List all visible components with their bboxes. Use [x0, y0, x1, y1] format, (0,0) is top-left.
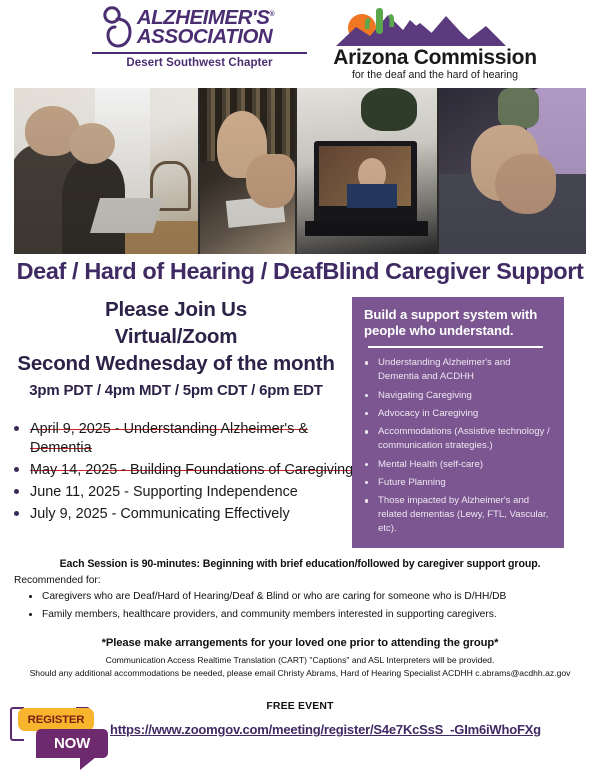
register-now-badge[interactable]: REGISTER NOW [10, 703, 118, 765]
arizona-commission-name: Arizona Commission [333, 47, 536, 68]
session-date-text: June 11, 2025 - Supporting Independence [30, 484, 298, 500]
bullet-icon [29, 595, 32, 598]
flyer-page: ALZHEIMER'S® ASSOCIATION Desert Southwes… [0, 0, 600, 776]
photo-hands-signing [200, 88, 295, 254]
join-line-schedule: Second Wednesday of the month [6, 350, 346, 377]
accessibility-note-line1: Communication Access Realtime Translatio… [0, 655, 600, 665]
list-item: July 9, 2025 - Communicating Effectively [8, 505, 354, 524]
session-date-text: May 14, 2025 - Building Foundations of C… [30, 462, 353, 478]
list-item: Those impacted by Alzheimer's and relate… [364, 494, 552, 536]
join-line-please-join-us: Please Join Us [6, 296, 346, 323]
session-date-text: July 9, 2025 - Communicating Effectively [30, 506, 290, 522]
recommended-audience-text: Caregivers who are Deaf/Hard of Hearing/… [42, 591, 506, 602]
list-item: Navigating Caregiving [364, 389, 552, 403]
support-topic-text: Understanding Alzheimer's and Dementia a… [378, 357, 511, 382]
photo-two-people-viewing-laptop [14, 88, 198, 254]
register-label: REGISTER [18, 708, 94, 731]
list-item: April 9, 2025 - Understanding Alzheimer'… [8, 420, 354, 458]
list-item: Mental Health (self-care) [364, 458, 552, 472]
list-item: Family members, healthcare providers, an… [24, 608, 584, 623]
arizona-desert-mountains-cactus-icon [336, 6, 534, 46]
support-topics-list: Understanding Alzheimer's and Dementia a… [364, 356, 552, 536]
accessibility-note-line2: Should any additional accommodations be … [0, 668, 600, 678]
support-topics-panel: Build a support system with people who u… [352, 297, 564, 548]
bullet-icon [365, 394, 368, 397]
list-item: Future Planning [364, 476, 552, 490]
support-topic-text: Mental Health (self-care) [378, 459, 483, 470]
alz-logo-wordmark: ALZHEIMER'S® ASSOCIATION [137, 8, 274, 46]
photo-strip [14, 88, 586, 254]
support-topic-text: Those impacted by Alzheimer's and relate… [378, 495, 548, 534]
bullet-icon [14, 467, 19, 472]
now-label: NOW [36, 729, 108, 758]
page-title: Deaf / Hard of Hearing / DeafBlind Careg… [0, 258, 600, 285]
recommended-audience-list: Caregivers who are Deaf/Hard of Hearing/… [24, 590, 584, 626]
registered-mark-icon: ® [269, 11, 274, 18]
support-topics-divider [368, 346, 543, 348]
bullet-icon [14, 426, 19, 431]
registration-link[interactable]: https://www.zoomgov.com/meeting/register… [110, 722, 580, 737]
bullet-icon [365, 481, 368, 484]
bullet-icon [365, 412, 368, 415]
alzheimers-association-logo: ALZHEIMER'S® ASSOCIATION Desert Southwes… [63, 6, 315, 69]
bullet-icon [365, 361, 368, 364]
support-topics-heading: Build a support system with people who u… [364, 307, 552, 339]
session-date-list: April 9, 2025 - Understanding Alzheimer'… [8, 420, 354, 527]
arizona-commission-logo: Arizona Commission for the deaf and the … [333, 6, 538, 81]
alz-logo-top: ALZHEIMER'S® ASSOCIATION [103, 6, 274, 48]
bullet-icon [365, 463, 368, 466]
photo-laptop-video-call [297, 88, 437, 254]
arizona-commission-tagline: for the deaf and the hard of hearing [352, 69, 518, 81]
bullet-icon [365, 430, 368, 433]
list-item: Understanding Alzheimer's and Dementia a… [364, 356, 552, 384]
support-topic-text: Accommodations (Assistive technology / c… [378, 426, 550, 451]
list-item: May 14, 2025 - Building Foundations of C… [8, 461, 354, 480]
support-topic-text: Advocacy in Caregiving [378, 408, 478, 419]
bullet-icon [14, 489, 19, 494]
arrangements-note: *Please make arrangements for your loved… [0, 637, 600, 649]
alz-logo-divider [92, 52, 307, 54]
speech-bubble-tail-icon [80, 757, 96, 770]
recommended-audience-text: Family members, healthcare providers, an… [42, 609, 497, 620]
list-item: Accommodations (Assistive technology / c… [364, 425, 552, 453]
join-line-virtual-zoom: Virtual/Zoom [6, 323, 346, 350]
bullet-icon [365, 499, 368, 502]
list-item: Caregivers who are Deaf/Hard of Hearing/… [24, 590, 584, 605]
support-topic-text: Navigating Caregiving [378, 390, 472, 401]
alz-logo-chapter: Desert Southwest Chapter [126, 57, 272, 69]
alzheimer-association-mark-icon [103, 6, 133, 48]
join-details: Please Join Us Virtual/Zoom Second Wedne… [6, 296, 346, 399]
photo-clasped-hands [439, 88, 586, 254]
bullet-icon [14, 511, 19, 516]
join-line-timezones: 3pm PDT / 4pm MDT / 5pm CDT / 6pm EDT [6, 382, 346, 399]
recommended-for-label: Recommended for: [14, 575, 101, 586]
alz-logo-line2: ASSOCIATION [137, 27, 274, 46]
list-item: Advocacy in Caregiving [364, 407, 552, 421]
session-date-text: April 9, 2025 - Understanding Alzheimer'… [30, 421, 308, 456]
bullet-icon [29, 613, 32, 616]
support-topic-text: Future Planning [378, 477, 446, 488]
list-item: June 11, 2025 - Supporting Independence [8, 483, 354, 502]
logo-header: ALZHEIMER'S® ASSOCIATION Desert Southwes… [0, 0, 600, 86]
session-length-note: Each Session is 90-minutes: Beginning wi… [0, 558, 600, 570]
